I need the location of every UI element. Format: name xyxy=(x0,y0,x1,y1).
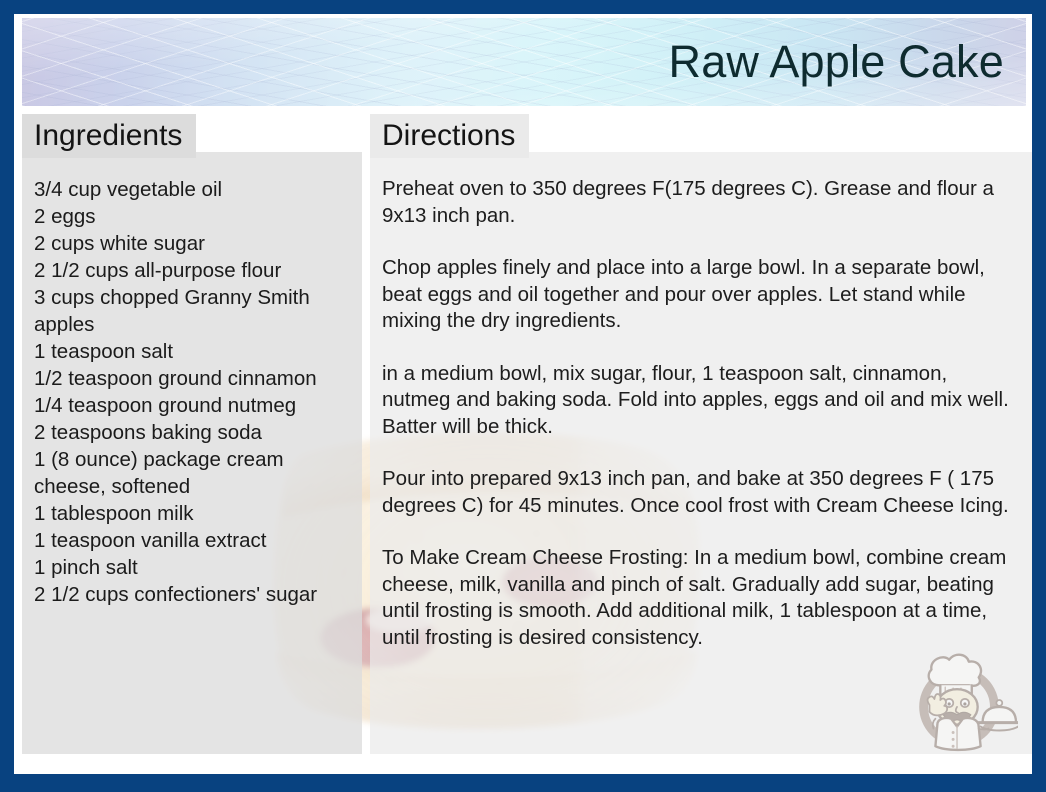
directions-header: Directions xyxy=(370,114,529,158)
direction-step-list: Preheat oven to 350 degrees F(175 degree… xyxy=(382,176,1020,651)
direction-step: Pour into prepared 9x13 inch pan, and ba… xyxy=(382,466,1020,519)
direction-step: Preheat oven to 350 degrees F(175 degree… xyxy=(382,176,1020,229)
list-item: 1/2 teaspoon ground cinnamon xyxy=(34,365,350,392)
recipe-card-frame: Raw Apple Cake xyxy=(0,0,1046,792)
list-item: 2 1/2 cups confectioners' sugar xyxy=(34,581,350,608)
list-item: 1 pinch salt xyxy=(34,554,350,581)
list-item: 1/4 teaspoon ground nutmeg xyxy=(34,392,350,419)
title-banner: Raw Apple Cake xyxy=(22,18,1026,106)
directions-column: Directions Preheat oven to 350 degrees F… xyxy=(370,114,1032,774)
list-item: 1 tablespoon milk xyxy=(34,500,350,527)
directions-body: Preheat oven to 350 degrees F(175 degree… xyxy=(370,152,1032,754)
recipe-card: Raw Apple Cake xyxy=(14,14,1032,774)
list-item: 1 teaspoon salt xyxy=(34,338,350,365)
direction-step: in a medium bowl, mix sugar, flour, 1 te… xyxy=(382,361,1020,441)
list-item: 2 teaspoons baking soda xyxy=(34,419,350,446)
ingredient-list: 3/4 cup vegetable oil 2 eggs 2 cups whit… xyxy=(34,176,350,608)
page-title: Raw Apple Cake xyxy=(669,36,1005,88)
ingredients-header: Ingredients xyxy=(22,114,196,158)
list-item: 2 1/2 cups all-purpose flour xyxy=(34,257,350,284)
recipe-columns: Ingredients 3/4 cup vegetable oil 2 eggs… xyxy=(14,114,1032,774)
list-item: 3 cups chopped Granny Smith apples xyxy=(34,284,350,338)
list-item: 2 eggs xyxy=(34,203,350,230)
ingredients-body: 3/4 cup vegetable oil 2 eggs 2 cups whit… xyxy=(22,152,362,754)
ingredients-column: Ingredients 3/4 cup vegetable oil 2 eggs… xyxy=(22,114,362,774)
list-item: 1 teaspoon vanilla extract xyxy=(34,527,350,554)
list-item: 3/4 cup vegetable oil xyxy=(34,176,350,203)
list-item: 1 (8 ounce) package cream cheese, soften… xyxy=(34,446,350,500)
list-item: 2 cups white sugar xyxy=(34,230,350,257)
direction-step: Chop apples finely and place into a larg… xyxy=(382,255,1020,335)
direction-step: To Make Cream Cheese Frosting: In a medi… xyxy=(382,545,1020,651)
